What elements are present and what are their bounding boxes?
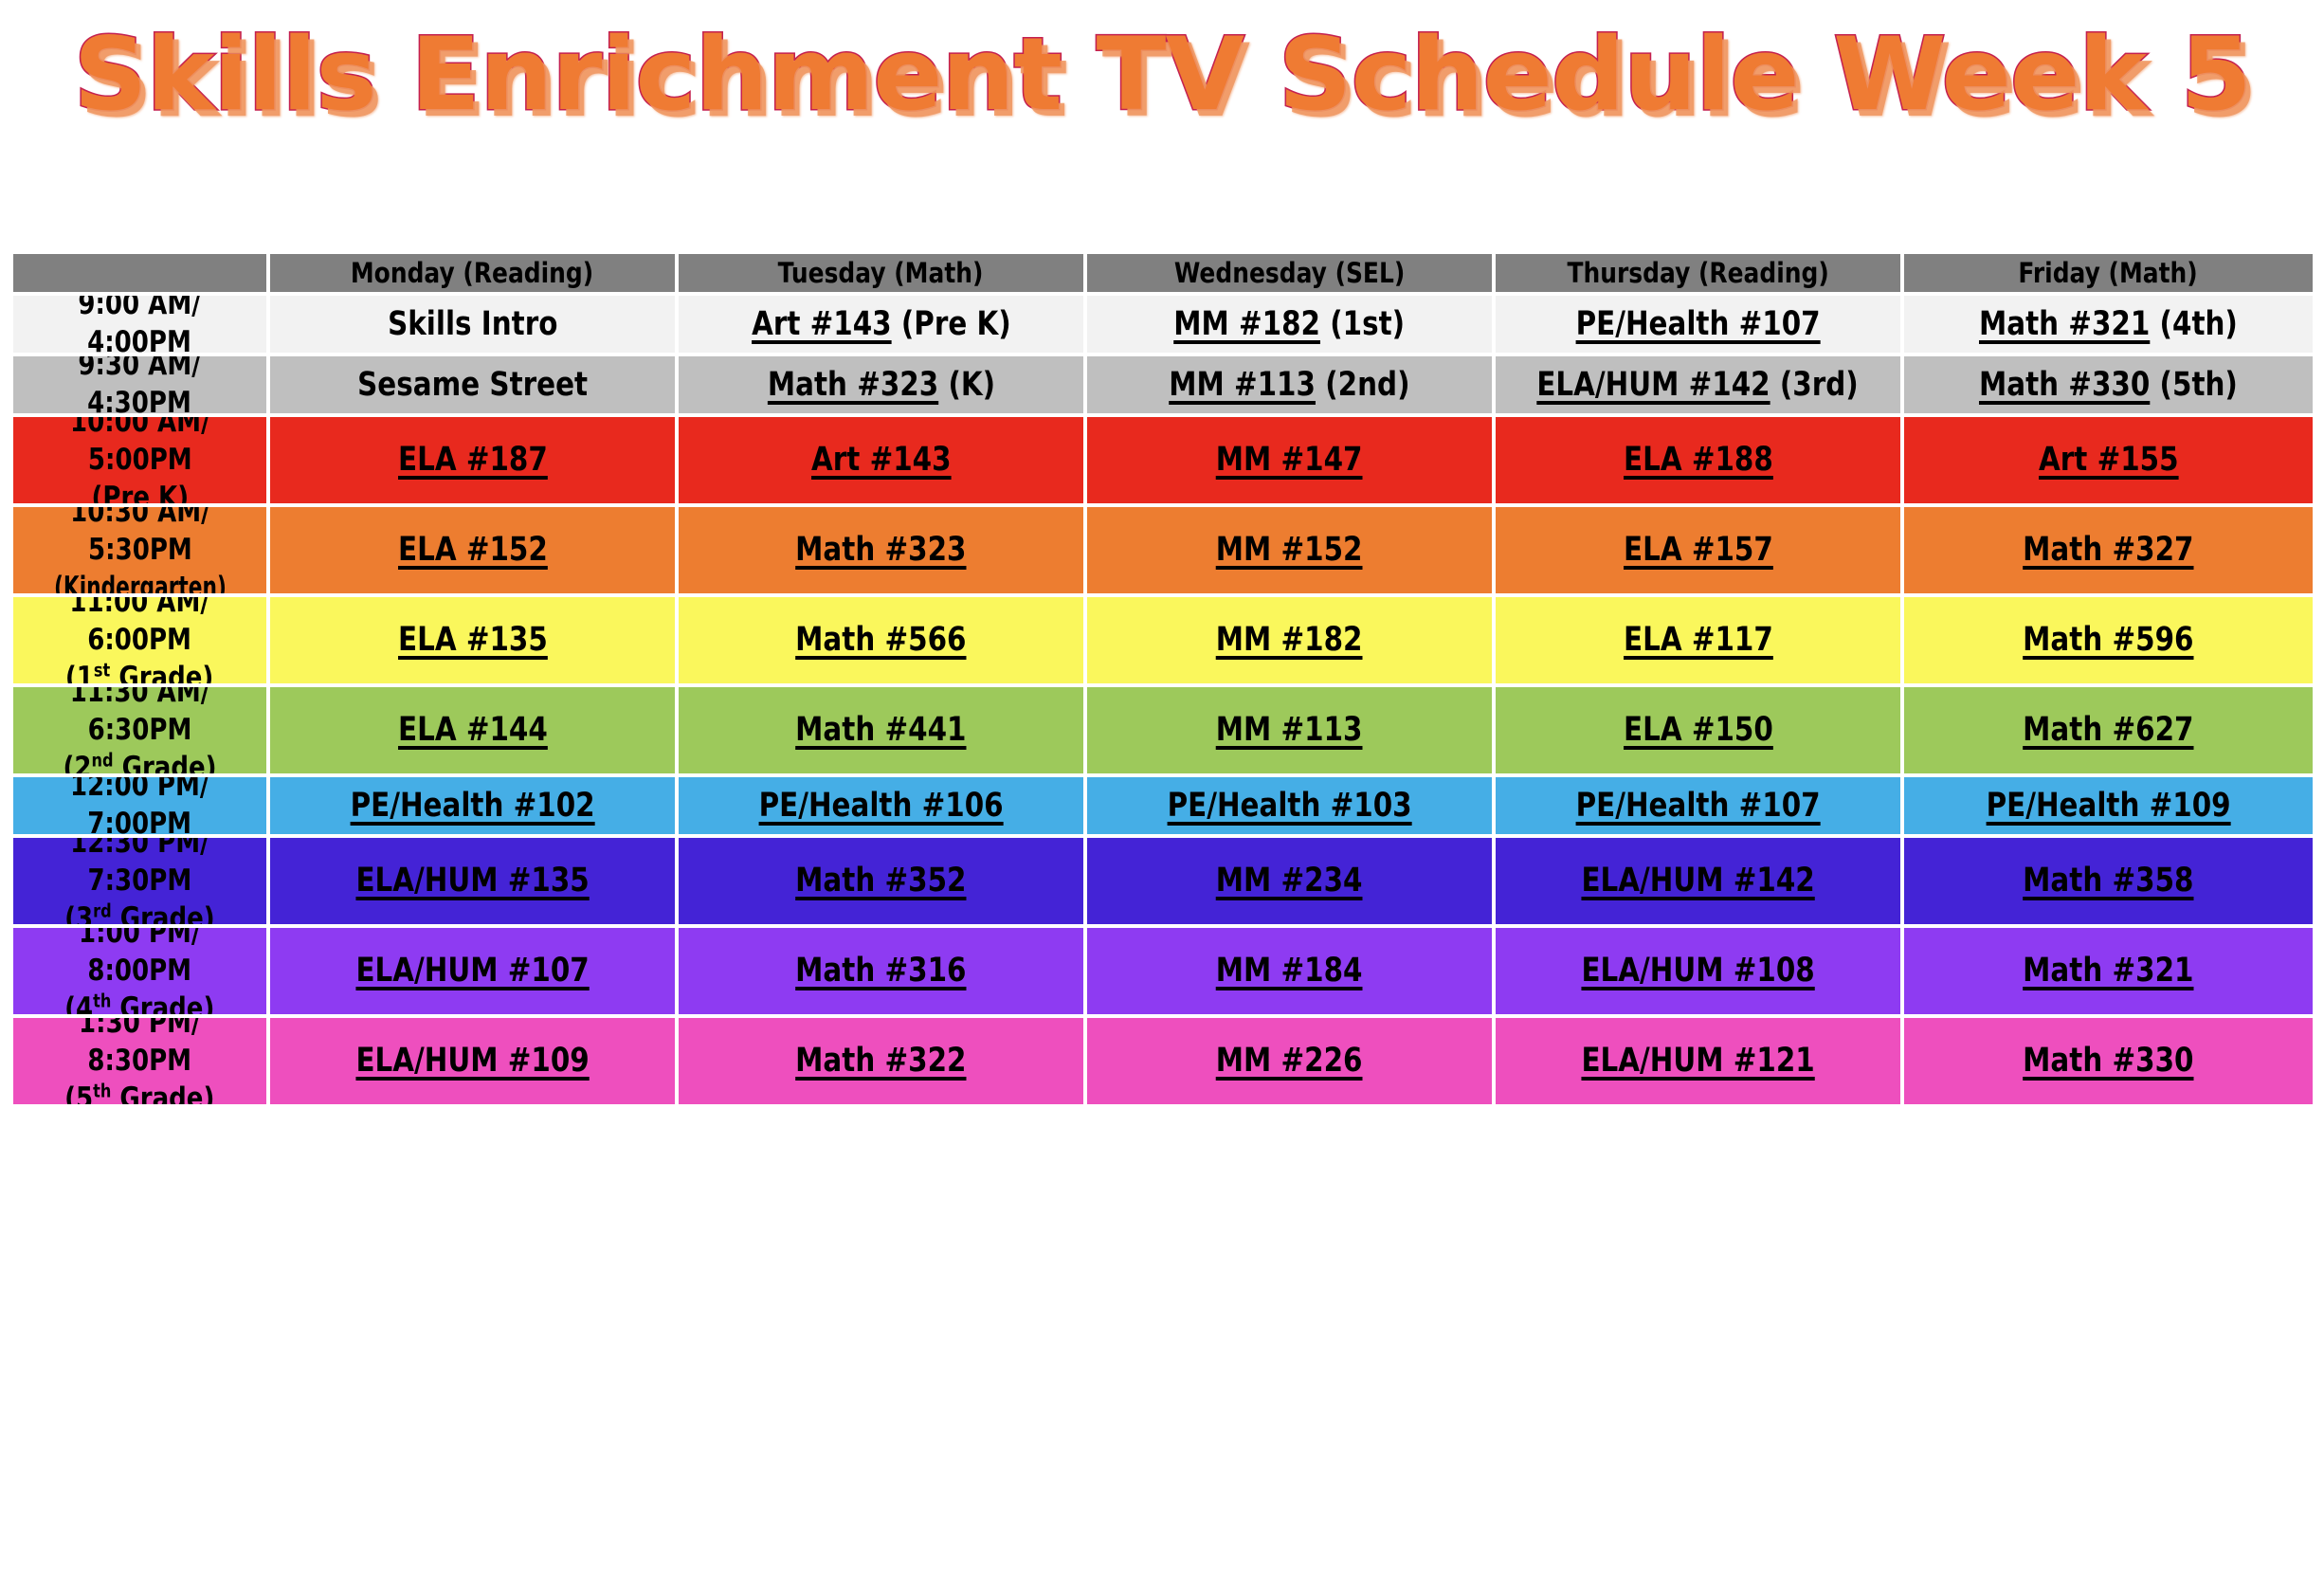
program-label: Math #323 (K) <box>767 367 994 404</box>
program-label: ELA #144 <box>398 712 548 749</box>
time-slot-cell: 9:30 AM/4:30PM <box>13 356 270 417</box>
program-code: ELA #117 <box>1624 621 1773 659</box>
column-header-3[interactable]: Wednesday (SEL) <box>1087 254 1496 296</box>
time-slot-cell: 10:30 AM/5:30PM(Kindergarten) <box>13 507 270 597</box>
program-grade-suffix: (Pre K) <box>891 305 1010 343</box>
program-cell[interactable]: PE/Health #103 <box>1087 777 1496 838</box>
program-cell[interactable]: Math #596 <box>1904 597 2313 687</box>
program-label: ELA/HUM #109 <box>355 1043 589 1080</box>
program-cell[interactable]: ELA #157 <box>1496 507 1904 597</box>
table-row: 12:00 PM/7:00PMPE/Health #102PE/Health #… <box>13 777 2313 838</box>
program-cell[interactable]: Skills Intro <box>270 296 679 356</box>
column-header-label: Tuesday (Math) <box>778 257 984 289</box>
program-code: Math #321 <box>2023 952 2193 990</box>
program-code: MM #234 <box>1216 862 1363 900</box>
time-line: 12:30 PM/ <box>64 838 215 863</box>
program-code: ELA/HUM #135 <box>355 862 589 900</box>
program-cell[interactable]: ELA #144 <box>270 687 679 777</box>
program-code: Math #330 <box>1979 366 2150 404</box>
column-header-label: Friday (Math) <box>2019 257 2198 289</box>
page-title: Skills Enrichment TV Schedule Week 5 <box>73 25 2250 125</box>
time-line: 11:30 AM/ <box>63 687 216 712</box>
program-label: ELA #152 <box>398 532 548 569</box>
program-label: ELA/HUM #108 <box>1581 953 1814 990</box>
program-cell[interactable]: ELA/HUM #109 <box>270 1018 679 1108</box>
program-code: ELA/HUM #108 <box>1581 952 1814 990</box>
program-cell[interactable]: PE/Health #106 <box>679 777 1087 838</box>
program-cell[interactable]: Math #358 <box>1904 838 2313 928</box>
program-label: ELA/HUM #107 <box>355 953 589 990</box>
program-code: Math #327 <box>2023 531 2193 569</box>
program-label: PE/Health #106 <box>758 788 1003 825</box>
page-title-container: Skills Enrichment TV Schedule Week 5 <box>0 4 2324 146</box>
program-cell[interactable]: Math #327 <box>1904 507 2313 597</box>
program-label: MM #147 <box>1216 442 1363 479</box>
grade-label: (Kindergarten) <box>54 570 227 598</box>
program-code: MM #152 <box>1216 531 1363 569</box>
grade-label: (2nd Grade) <box>63 750 216 778</box>
program-label: Math #330 (5th) <box>1979 367 2238 404</box>
program-label: MM #234 <box>1216 863 1363 900</box>
program-cell[interactable]: Math #352 <box>679 838 1087 928</box>
program-cell[interactable]: ELA/HUM #108 <box>1496 928 1904 1018</box>
program-label: PE/Health #107 <box>1575 306 1820 343</box>
program-label: Math #330 <box>2023 1043 2193 1080</box>
time-line: 10:00 AM/ <box>70 417 210 442</box>
program-code: ELA #187 <box>398 441 548 479</box>
program-cell[interactable]: ELA/HUM #121 <box>1496 1018 1904 1108</box>
schedule-table: Monday (Reading)Tuesday (Math)Wednesday … <box>13 254 2313 1108</box>
program-cell[interactable]: MM #113 (2nd) <box>1087 356 1496 417</box>
program-cell[interactable]: ELA #150 <box>1496 687 1904 777</box>
program-code: Art #143 <box>811 441 952 479</box>
program-cell[interactable]: PE/Health #107 <box>1496 777 1904 838</box>
grade-label: (Pre K) <box>70 480 210 508</box>
program-code: Math #627 <box>2023 711 2193 749</box>
column-header-label: Monday (Reading) <box>351 257 593 289</box>
program-label: Skills Intro <box>388 306 557 343</box>
program-label: Math #566 <box>795 622 966 659</box>
program-code: ELA #157 <box>1624 531 1773 569</box>
program-code: MM #147 <box>1216 441 1363 479</box>
program-cell[interactable]: MM #182 <box>1087 597 1496 687</box>
program-code: Math #596 <box>2023 621 2193 659</box>
program-code: Math #316 <box>795 952 966 990</box>
program-cell[interactable]: MM #184 <box>1087 928 1496 1018</box>
program-code: MM #113 <box>1216 711 1363 749</box>
program-grade-suffix: (1st) <box>1320 305 1405 343</box>
program-label: Art #143 <box>811 442 952 479</box>
column-header-5[interactable]: Friday (Math) <box>1904 254 2313 296</box>
time-line: 5:30PM <box>36 532 243 570</box>
program-cell[interactable]: MM #182 (1st) <box>1087 296 1496 356</box>
program-cell[interactable]: MM #152 <box>1087 507 1496 597</box>
program-cell[interactable]: Math #566 <box>679 597 1087 687</box>
table-header-row: Monday (Reading)Tuesday (Math)Wednesday … <box>13 254 2313 296</box>
column-header-1[interactable]: Monday (Reading) <box>270 254 679 296</box>
program-label: Math #596 <box>2023 622 2193 659</box>
grade-ordinal-suffix: th <box>93 1080 111 1101</box>
program-label: Math #321 <box>2023 953 2193 990</box>
program-code: Math #323 <box>767 366 937 404</box>
program-code: ELA/HUM #107 <box>355 952 589 990</box>
program-label: ELA #150 <box>1624 712 1773 749</box>
program-code: ELA #188 <box>1624 441 1773 479</box>
time-slot-cell: 10:00 AM/5:00PM(Pre K) <box>13 417 270 507</box>
time-line: 4:00PM <box>79 324 201 356</box>
program-label: Math #352 <box>795 863 966 900</box>
grade-label: (1st Grade) <box>65 660 213 688</box>
program-code: ELA #150 <box>1624 711 1773 749</box>
header-corner <box>13 254 270 296</box>
program-grade-suffix: (5th) <box>2150 366 2238 404</box>
program-cell[interactable]: Art #143 (Pre K) <box>679 296 1087 356</box>
time-line: 6:30PM <box>63 712 216 750</box>
program-code: Math #323 <box>795 531 966 569</box>
time-line: 7:30PM <box>64 863 215 900</box>
program-label: Math #627 <box>2023 712 2193 749</box>
time-line: 9:00 AM/ <box>79 296 201 324</box>
time-line: 8:00PM <box>64 953 214 990</box>
time-line: 8:30PM <box>64 1043 214 1081</box>
program-label: PE/Health #107 <box>1575 788 1820 825</box>
time-line: 9:30 AM/ <box>79 356 201 385</box>
column-header-2[interactable]: Tuesday (Math) <box>679 254 1087 296</box>
grade-ordinal-suffix: rd <box>93 900 112 921</box>
program-cell[interactable]: Math #330 <box>1904 1018 2313 1108</box>
time-slot-cell: 9:00 AM/4:00PM <box>13 296 270 356</box>
program-code: PE/Health #107 <box>1575 787 1820 825</box>
program-label: ELA/HUM #142 <box>1581 863 1814 900</box>
program-code: Math #321 <box>1979 305 2150 343</box>
program-label: MM #226 <box>1216 1043 1363 1080</box>
time-line: 12:00 PM/ <box>70 777 209 806</box>
time-slot-cell: 1:00 PM/8:00PM(4th Grade) <box>13 928 270 1018</box>
table-row: 10:30 AM/5:30PM(Kindergarten)ELA #152Mat… <box>13 507 2313 597</box>
grade-label: (4th Grade) <box>64 990 214 1019</box>
program-cell[interactable]: ELA/HUM #107 <box>270 928 679 1018</box>
program-code: MM #184 <box>1216 952 1363 990</box>
program-label: Art #143 (Pre K) <box>752 306 1011 343</box>
table-row: 10:00 AM/5:00PM(Pre K)ELA #187Art #143MM… <box>13 417 2313 507</box>
program-code: PE/Health #107 <box>1575 305 1820 343</box>
program-label: Math #327 <box>2023 532 2193 569</box>
program-label: ELA/HUM #135 <box>355 863 589 900</box>
column-header-label: Thursday (Reading) <box>1567 257 1828 289</box>
program-cell[interactable]: ELA/HUM #142 (3rd) <box>1496 356 1904 417</box>
grade-ordinal-suffix: st <box>94 659 110 681</box>
program-cell[interactable]: ELA/HUM #142 <box>1496 838 1904 928</box>
time-line: 1:30 PM/ <box>64 1018 214 1043</box>
time-line: 7:00PM <box>70 806 209 838</box>
time-slot-cell: 1:30 PM/8:30PM(5th Grade) <box>13 1018 270 1108</box>
time-line: 5:00PM <box>70 442 210 480</box>
program-cell[interactable]: MM #226 <box>1087 1018 1496 1108</box>
program-cell[interactable]: ELA #152 <box>270 507 679 597</box>
program-code: PE/Health #109 <box>1986 787 2230 825</box>
program-code: ELA/HUM #142 <box>1581 862 1814 900</box>
program-label: ELA #117 <box>1624 622 1773 659</box>
program-cell[interactable]: PE/Health #107 <box>1496 296 1904 356</box>
program-label: Math #316 <box>795 953 966 990</box>
time-line: 4:30PM <box>79 385 201 417</box>
program-code: ELA #144 <box>398 711 548 749</box>
program-cell[interactable]: MM #234 <box>1087 838 1496 928</box>
program-cell[interactable]: ELA #188 <box>1496 417 1904 507</box>
program-code: Math #566 <box>795 621 966 659</box>
program-label: Math #441 <box>795 712 966 749</box>
program-code: Art #155 <box>2039 441 2179 479</box>
program-label: PE/Health #109 <box>1986 788 2230 825</box>
time-slot-cell: 11:30 AM/6:30PM(2nd Grade) <box>13 687 270 777</box>
time-line: 10:30 AM/ <box>36 507 243 532</box>
program-code: ELA #135 <box>398 621 548 659</box>
program-cell[interactable]: Art #155 <box>1904 417 2313 507</box>
program-code: ELA/HUM #109 <box>355 1042 589 1080</box>
table-row: 1:00 PM/8:00PM(4th Grade)ELA/HUM #107Mat… <box>13 928 2313 1018</box>
program-cell[interactable]: Math #330 (5th) <box>1904 356 2313 417</box>
table-row: 11:30 AM/6:30PM(2nd Grade)ELA #144Math #… <box>13 687 2313 777</box>
program-code: Math #352 <box>795 862 966 900</box>
program-cell[interactable]: Math #322 <box>679 1018 1087 1108</box>
time-line: 11:00 AM/ <box>65 597 213 622</box>
program-label: MM #182 <box>1216 622 1363 659</box>
program-cell[interactable]: Math #627 <box>1904 687 2313 777</box>
program-label: PE/Health #103 <box>1167 788 1411 825</box>
program-label: ELA #135 <box>398 622 548 659</box>
column-header-4[interactable]: Thursday (Reading) <box>1496 254 1904 296</box>
program-code: MM #113 <box>1169 366 1316 404</box>
program-label: Art #155 <box>2039 442 2179 479</box>
program-grade-suffix: (4th) <box>2150 305 2238 343</box>
program-label: Math #323 <box>795 532 966 569</box>
program-label: MM #113 <box>1216 712 1363 749</box>
grade-ordinal-suffix: th <box>93 990 111 1011</box>
program-cell[interactable]: ELA #117 <box>1496 597 1904 687</box>
program-cell[interactable]: Math #323 (K) <box>679 356 1087 417</box>
program-label: ELA #188 <box>1624 442 1773 479</box>
program-cell[interactable]: ELA #187 <box>270 417 679 507</box>
program-cell[interactable]: Art #143 <box>679 417 1087 507</box>
program-label: MM #182 (1st) <box>1174 306 1406 343</box>
program-label: ELA/HUM #121 <box>1581 1043 1814 1080</box>
program-label: MM #152 <box>1216 532 1363 569</box>
program-code: MM #182 <box>1216 621 1363 659</box>
program-label: MM #184 <box>1216 953 1363 990</box>
program-code: Sesame Street <box>357 366 588 404</box>
program-cell[interactable]: Math #316 <box>679 928 1087 1018</box>
program-cell[interactable]: ELA #135 <box>270 597 679 687</box>
program-code: ELA #152 <box>398 531 548 569</box>
program-code: Math #358 <box>2023 862 2193 900</box>
time-slot-cell: 11:00 AM/6:00PM(1st Grade) <box>13 597 270 687</box>
program-cell[interactable]: Math #323 <box>679 507 1087 597</box>
program-code: MM #182 <box>1174 305 1321 343</box>
program-label: ELA #157 <box>1624 532 1773 569</box>
program-code: Art #143 <box>752 305 892 343</box>
program-label: MM #113 (2nd) <box>1169 367 1409 404</box>
program-cell[interactable]: ELA/HUM #135 <box>270 838 679 928</box>
table-row: 1:30 PM/8:30PM(5th Grade)ELA/HUM #109Mat… <box>13 1018 2313 1108</box>
grade-label: (5th Grade) <box>64 1081 214 1109</box>
program-label: Math #358 <box>2023 863 2193 900</box>
program-code: PE/Health #106 <box>758 787 1003 825</box>
program-grade-suffix: (K) <box>938 366 995 404</box>
program-code: ELA/HUM #142 <box>1537 366 1770 404</box>
program-grade-suffix: (3rd) <box>1770 366 1859 404</box>
program-label: Math #322 <box>795 1043 966 1080</box>
program-code: PE/Health #103 <box>1167 787 1411 825</box>
program-code: Math #330 <box>2023 1042 2193 1080</box>
time-slot-cell: 12:30 PM/7:30PM(3rd Grade) <box>13 838 270 928</box>
table-row: 12:30 PM/7:30PM(3rd Grade)ELA/HUM #135Ma… <box>13 838 2313 928</box>
program-code: MM #226 <box>1216 1042 1363 1080</box>
program-grade-suffix: (2nd) <box>1316 366 1410 404</box>
program-cell[interactable]: PE/Health #102 <box>270 777 679 838</box>
program-code: Math #322 <box>795 1042 966 1080</box>
program-label: Sesame Street <box>357 367 588 404</box>
column-header-label: Wednesday (SEL) <box>1174 257 1405 289</box>
program-code: ELA/HUM #121 <box>1581 1042 1814 1080</box>
program-cell[interactable]: Math #441 <box>679 687 1087 777</box>
time-line: 6:00PM <box>65 622 213 660</box>
table-row: 9:00 AM/4:00PMSkills IntroArt #143 (Pre … <box>13 296 2313 356</box>
table-row: 9:30 AM/4:30PMSesame StreetMath #323 (K)… <box>13 356 2313 417</box>
program-cell[interactable]: PE/Health #109 <box>1904 777 2313 838</box>
program-cell[interactable]: Math #321 (4th) <box>1904 296 2313 356</box>
program-label: ELA/HUM #142 (3rd) <box>1537 367 1859 404</box>
program-code: Math #441 <box>795 711 966 749</box>
program-label: Math #321 (4th) <box>1979 306 2238 343</box>
grade-label: (3rd Grade) <box>64 900 215 929</box>
program-cell[interactable]: Sesame Street <box>270 356 679 417</box>
program-code: Skills Intro <box>388 305 557 343</box>
program-label: PE/Health #102 <box>350 788 594 825</box>
schedule-page: Skills Enrichment TV Schedule Week 5 Mon… <box>0 0 2324 1581</box>
time-line: 1:00 PM/ <box>64 928 214 953</box>
program-code: PE/Health #102 <box>350 787 594 825</box>
program-label: ELA #187 <box>398 442 548 479</box>
program-cell[interactable]: MM #113 <box>1087 687 1496 777</box>
program-cell[interactable]: Math #321 <box>1904 928 2313 1018</box>
program-cell[interactable]: MM #147 <box>1087 417 1496 507</box>
table-row: 11:00 AM/6:00PM(1st Grade)ELA #135Math #… <box>13 597 2313 687</box>
grade-ordinal-suffix: nd <box>91 749 113 771</box>
time-slot-cell: 12:00 PM/7:00PM <box>13 777 270 838</box>
